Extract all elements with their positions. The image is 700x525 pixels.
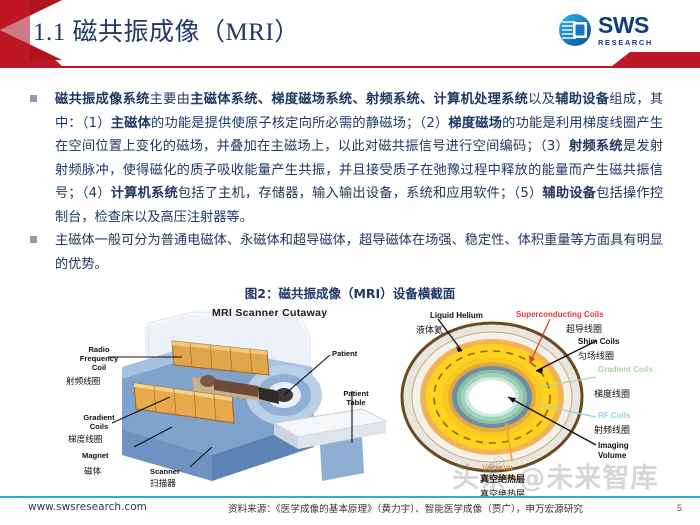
footer-divider <box>0 496 700 498</box>
label-imaging-volume: Imaging Volume <box>598 441 650 460</box>
figure-caption: 图2：磁共振成像（MRI）设备横截面 <box>0 283 700 302</box>
label-scanner-cn: 扫描器 <box>150 477 176 489</box>
label-rf-coils-cn: 射频线圈 <box>594 423 630 436</box>
page-title: 1.1 磁共振成像（MRI） <box>33 12 300 48</box>
footer-website-url[interactable]: www.swsresearch.com <box>28 501 147 513</box>
label-magnet-cn: 磁体 <box>84 465 101 477</box>
label-liquid-helium: Liquid Helium <box>430 311 483 321</box>
logo-subtitle: RESEARCH <box>598 39 653 47</box>
label-gradient-coils: Gradient Coils <box>64 413 134 431</box>
footer-source-note: 资料来源：《医学成像的基本原理》（黄力宇）、智能医学成像（贾广），申万宏源研究 <box>228 501 583 515</box>
logo-name: SWS <box>598 14 653 37</box>
page-number: 5 <box>677 503 682 513</box>
label-vacuum-insulation-cn: 真空绝热层 <box>480 487 525 500</box>
label-vacuum-insulation-cn-2: 真空绝热层 <box>480 472 525 485</box>
figure-area: MRI Scanner Cutaway <box>0 305 700 490</box>
label-liquid-helium-cn: 液体氦 <box>416 323 443 336</box>
logo-wordmark: SWS RESEARCH <box>598 14 653 47</box>
paragraph-2-text: 主磁体一般可分为普通电磁体、永磁体和超导磁体，超导磁体在场强、稳定性、体积重量等… <box>55 229 663 276</box>
label-scanner: Scanner <box>150 467 180 476</box>
label-gradient-coils-cn: 梯度线圈 <box>68 433 102 445</box>
label-magnet: Magnet <box>82 451 109 460</box>
header-red-bar <box>0 52 700 68</box>
sws-circle-logo-icon <box>558 13 592 47</box>
label-gradient-coils-cs-cn: 梯度线圈 <box>594 387 630 400</box>
label-radio-frequency-coil: Radio Frequency Coil <box>66 345 132 372</box>
label-superconducting-coils-cn: 超导线圈 <box>566 322 602 335</box>
slide-root: 1.1 磁共振成像（MRI） <box>0 0 700 525</box>
label-shim-coils: Shim Coils <box>578 337 619 347</box>
label-shim-coils-cn: 匀场线圈 <box>578 349 614 362</box>
label-radio-frequency-coil-cn: 射频线圈 <box>66 375 100 387</box>
cross-section-illustration <box>400 305 700 487</box>
label-patient: Patient <box>332 349 357 358</box>
square-bullet-icon <box>30 95 37 102</box>
sws-research-logo: SWS RESEARCH <box>558 10 684 50</box>
square-bullet-icon <box>30 236 37 243</box>
label-patient-table: Patient Table <box>332 389 380 407</box>
content-paragraph-1: 磁共振成像系统主要由主磁体系统、梯度磁场系统、射频系统、计算机处理系统以及辅助设… <box>30 88 675 229</box>
slide-header: 1.1 磁共振成像（MRI） <box>0 0 700 72</box>
paragraph-1-text: 磁共振成像系统主要由主磁体系统、梯度磁场系统、射频系统、计算机处理系统以及辅助设… <box>55 88 663 229</box>
cutaway-title: MRI Scanner Cutaway <box>212 307 327 319</box>
label-rf-coils: RF Coils <box>598 411 630 421</box>
content-paragraph-2: 主磁体一般可分为普通电磁体、永磁体和超导磁体，超导磁体在场强、稳定性、体积重量等… <box>30 229 675 276</box>
label-gradient-coils-cs: Gradient Coils <box>598 365 654 375</box>
mri-cross-section-diagram: Liquid Helium 液体氦 Superconducting Coils … <box>400 305 700 487</box>
mri-scanner-cutaway-diagram: MRI Scanner Cutaway <box>62 305 402 487</box>
label-superconducting-coils: Superconducting Coils <box>516 310 604 320</box>
